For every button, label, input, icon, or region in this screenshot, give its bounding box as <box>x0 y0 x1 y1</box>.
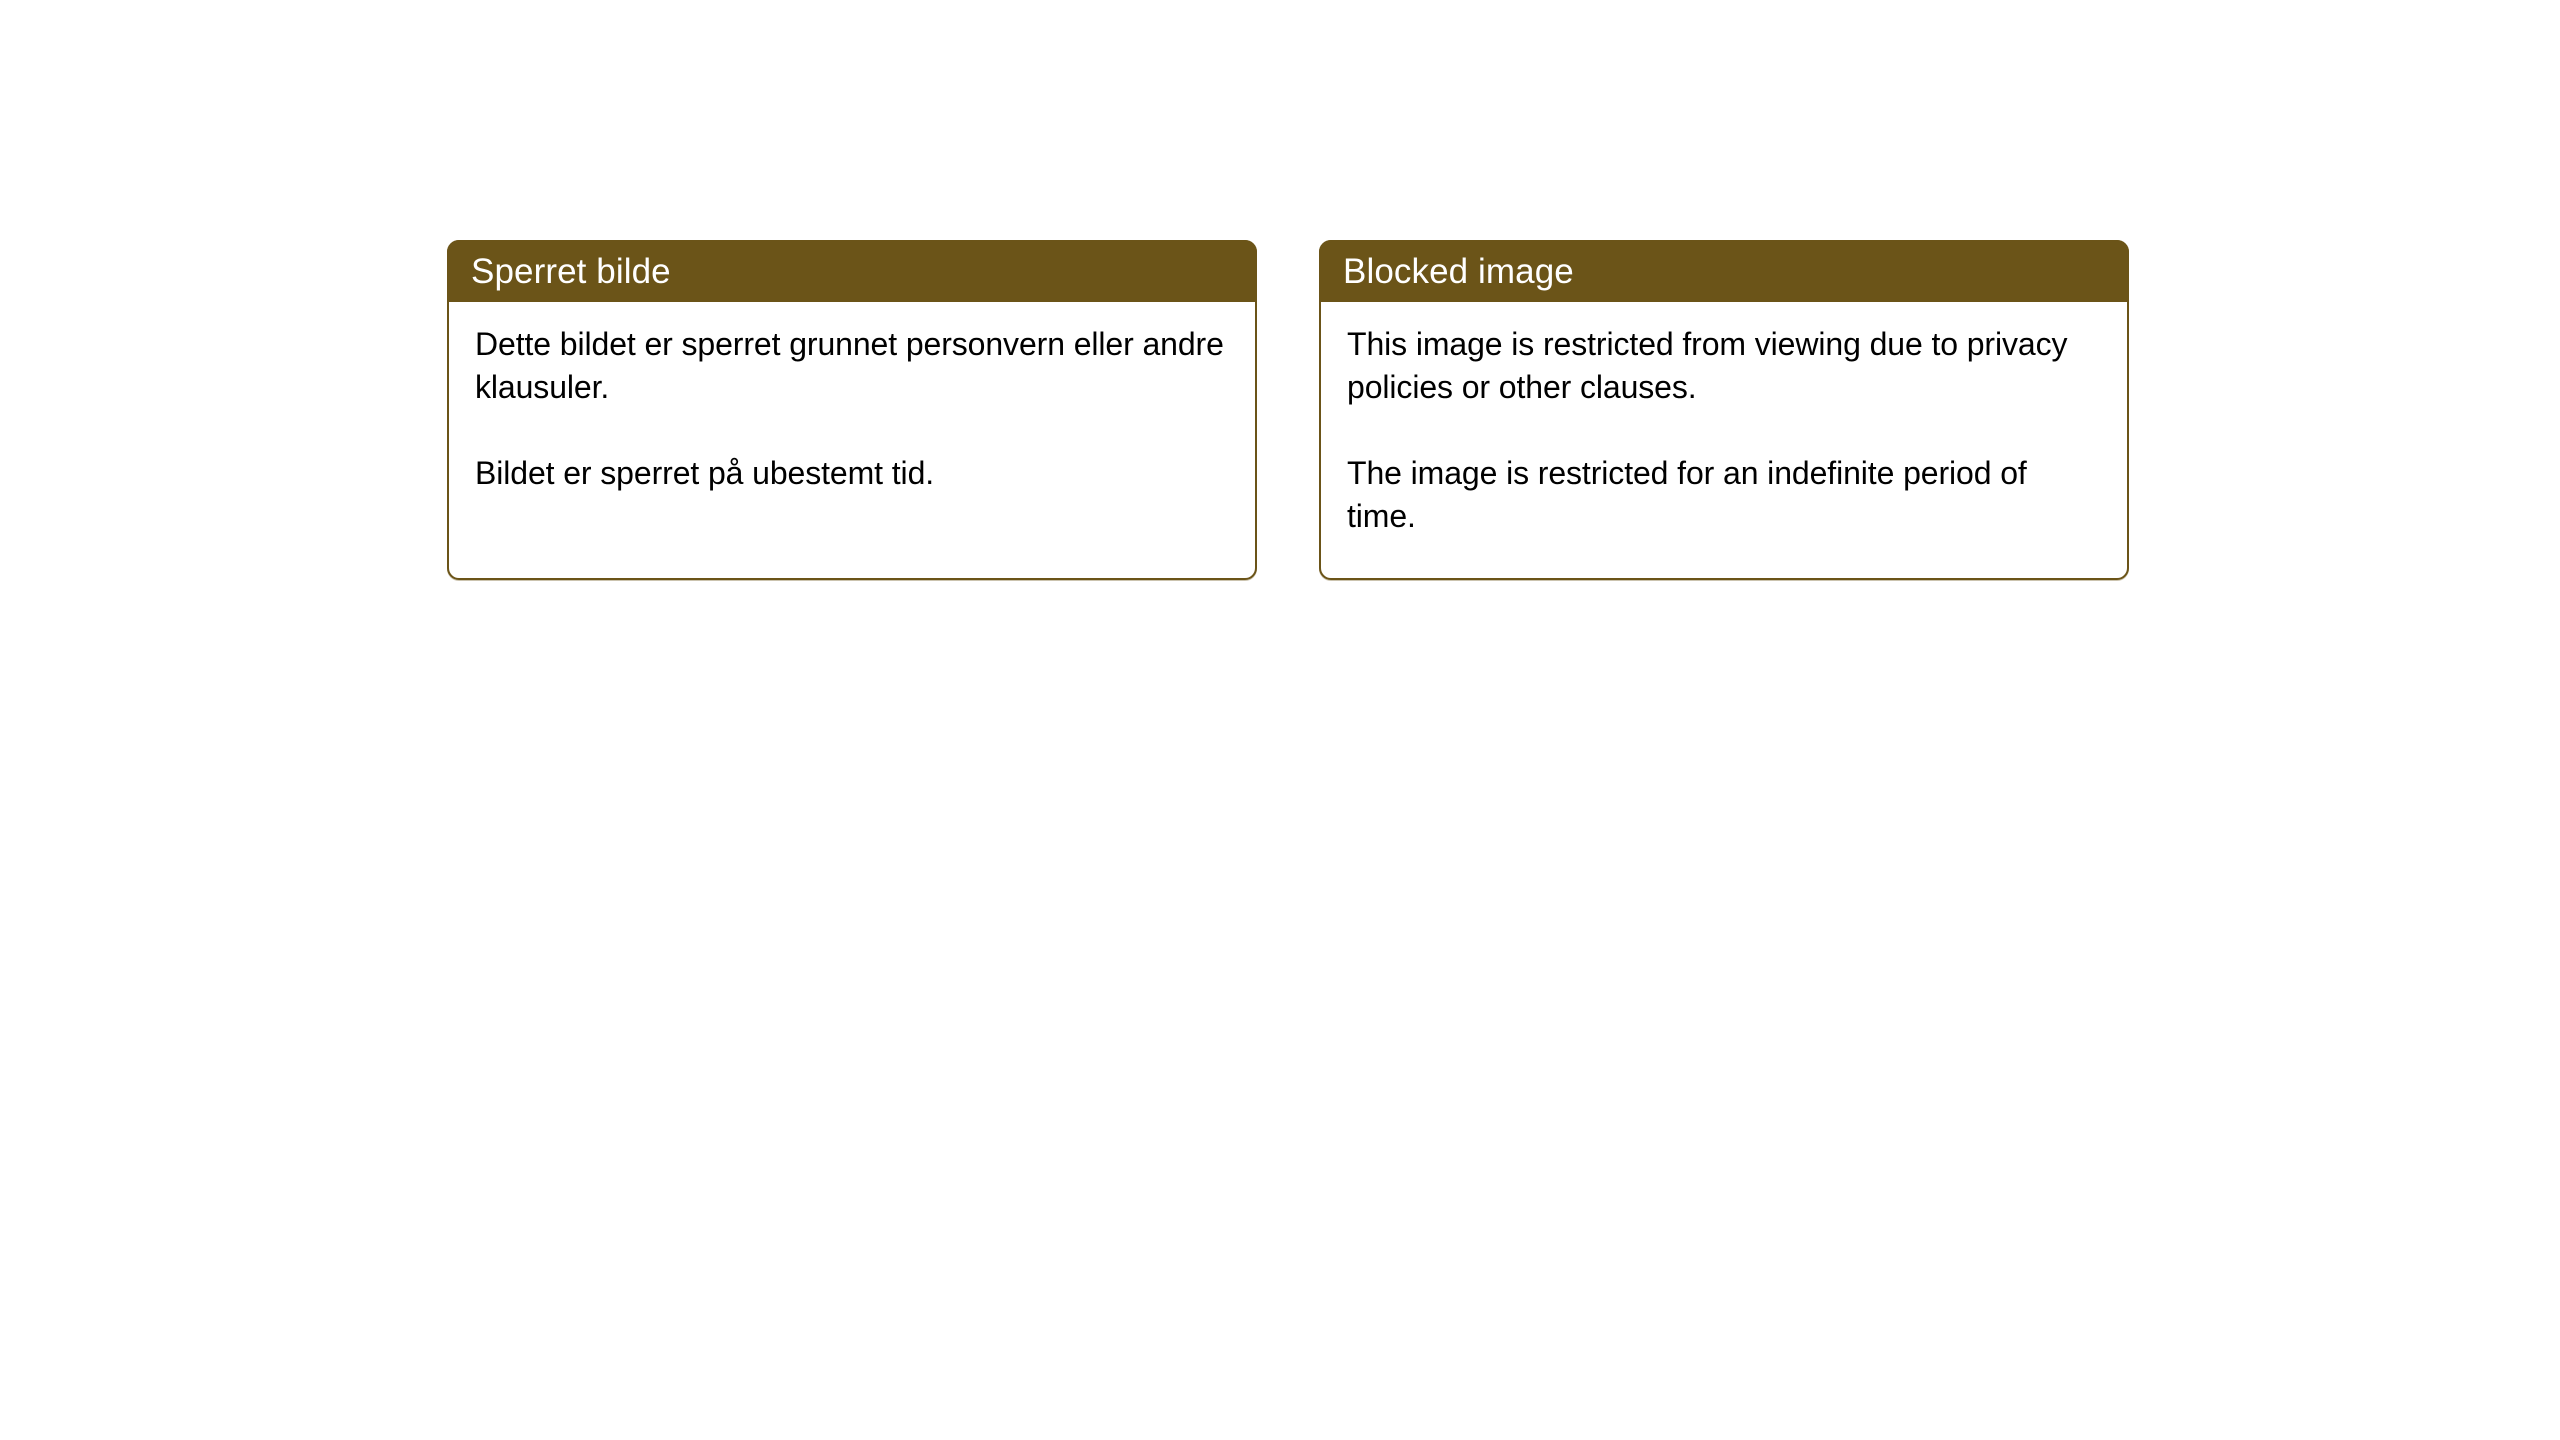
panel-paragraph-reason-norwegian: Dette bildet er sperret grunnet personve… <box>475 323 1229 409</box>
blocked-image-panel-norwegian: Sperret bilde Dette bildet er sperret gr… <box>447 240 1257 580</box>
panel-header-norwegian: Sperret bilde <box>447 240 1257 302</box>
panel-title-english: Blocked image <box>1343 254 1574 289</box>
panel-header-english: Blocked image <box>1319 240 2129 302</box>
blocked-image-panel-english: Blocked image This image is restricted f… <box>1319 240 2129 580</box>
panel-body-norwegian: Dette bildet er sperret grunnet personve… <box>449 302 1255 578</box>
panel-body-english: This image is restricted from viewing du… <box>1321 302 2127 578</box>
panel-paragraph-duration-norwegian: Bildet er sperret på ubestemt tid. <box>475 452 1229 495</box>
panel-paragraph-duration-english: The image is restricted for an indefinit… <box>1347 452 2101 538</box>
panel-paragraph-reason-english: This image is restricted from viewing du… <box>1347 323 2101 409</box>
panel-title-norwegian: Sperret bilde <box>471 254 671 289</box>
blocked-image-notice-area: Sperret bilde Dette bildet er sperret gr… <box>0 0 2560 1440</box>
